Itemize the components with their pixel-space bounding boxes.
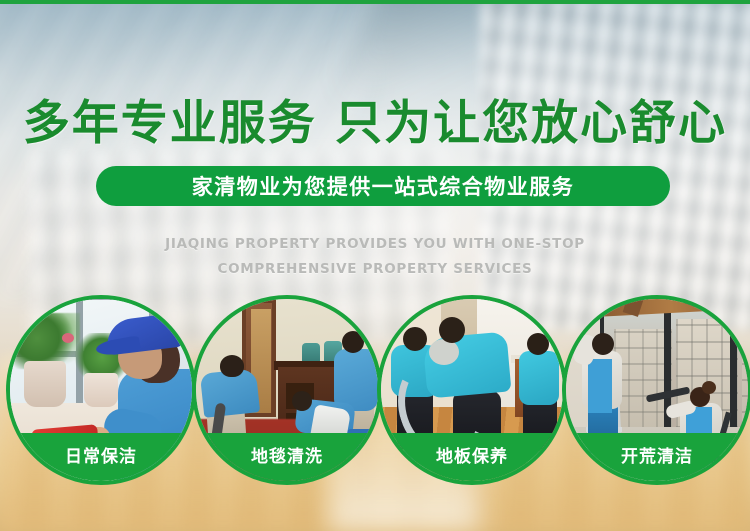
service-card-post-construction-cleaning[interactable]: 开荒清洁 [562,295,750,485]
top-accent-rule [0,0,750,4]
promotional-banner: 多年专业服务 只为让您放心舒心 家清物业为您提供一站式综合物业服务 JIAQIN… [0,0,750,531]
service-label-post-construction-cleaning: 开荒清洁 [621,442,693,467]
subtitle-line-2: COMPREHENSIVE PROPERTY SERVICES [0,257,750,282]
subtitle-line-1: JIAQING PROPERTY PROVIDES YOU WITH ONE-S… [0,232,750,257]
tagline-text: 家清物业为您提供一站式综合物业服务 [192,171,575,201]
service-label-band: 地毯清洗 [196,433,378,481]
service-label-daily-cleaning: 日常保洁 [65,442,137,467]
service-label-band: 开荒清洁 [566,433,748,481]
service-card-row: 日常保洁 [0,295,750,487]
tagline-pill: 家清物业为您提供一站式综合物业服务 [96,166,670,206]
service-label-carpet-cleaning: 地毯清洗 [251,442,323,467]
service-card-floor-maintenance[interactable]: 地板保养 [377,295,567,485]
service-label-band: 地板保养 [381,433,563,481]
service-card-daily-cleaning[interactable]: 日常保洁 [6,295,196,485]
subtitle-block: JIAQING PROPERTY PROVIDES YOU WITH ONE-S… [0,232,750,282]
service-label-band: 日常保洁 [10,433,192,481]
service-label-floor-maintenance: 地板保养 [436,442,508,467]
headline: 多年专业服务 只为让您放心舒心 [0,84,750,153]
service-card-carpet-cleaning[interactable]: 地毯清洗 [192,295,382,485]
